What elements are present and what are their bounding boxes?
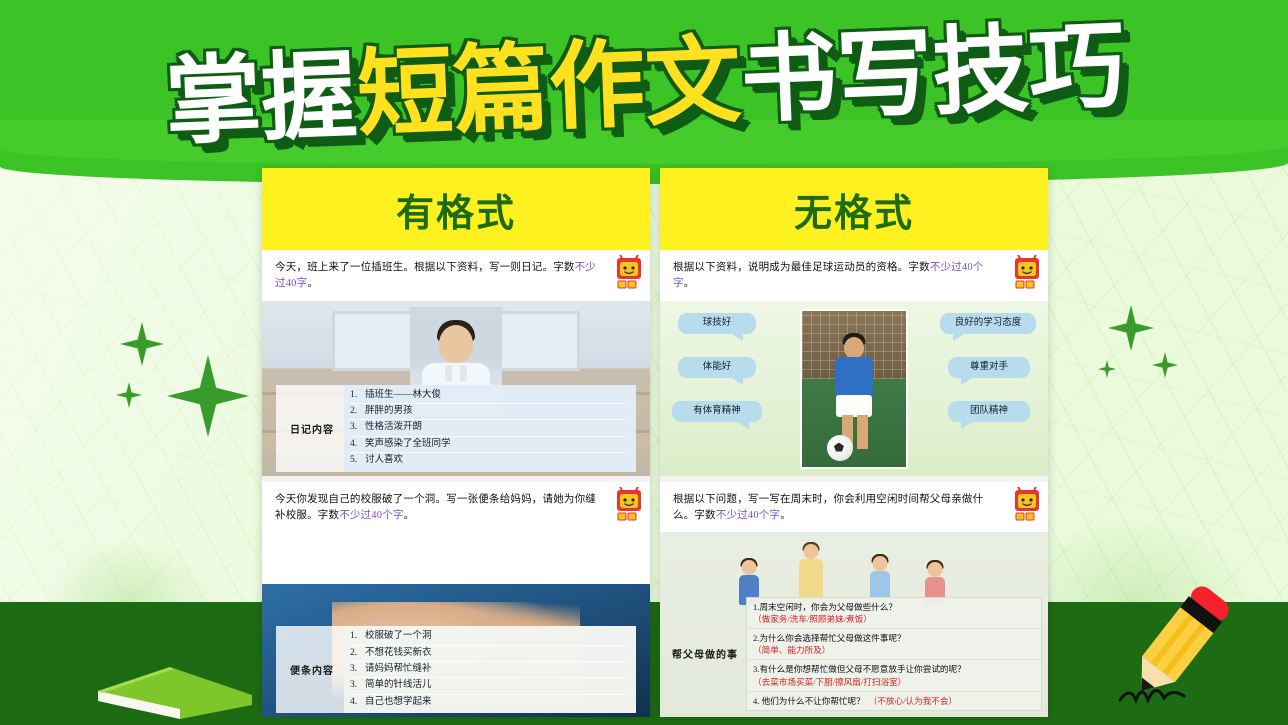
- question-card-diary: 今天，班上来了一位插班生。根据以下资料，写一则日记。字数不少过40字。: [262, 250, 650, 476]
- prompt-soccer: 根据以下资料，说明成为最佳足球运动员的资格。字数不少过40个字。: [660, 250, 1048, 301]
- list-text: 自己也想学起来: [365, 695, 432, 710]
- question-row: 3.有什么是你想帮忙做但父母不愿意放手让你尝试的呢？ （去菜市场买菜/下厨/擦风…: [747, 660, 1041, 691]
- pencil-icon: [1114, 576, 1244, 711]
- list-item: 4.自己也想学起来: [350, 695, 626, 710]
- panel-header-with-format: 有格式: [262, 168, 650, 250]
- soccer-ball: [827, 435, 853, 461]
- student-collar: [445, 365, 467, 381]
- player-shorts: [836, 395, 872, 417]
- title-char: 写: [834, 25, 934, 125]
- panel-with-format: 有格式 今天，班上来了一位插班生。根据以下资料，写一则日记。字数不少过40字。: [262, 168, 650, 713]
- note-content-list: 1.校服破了一个洞 2.不想花钱买新衣 3.请妈妈帮忙缝补 3.简单的针线活儿 …: [344, 626, 636, 713]
- list-number: 5.: [350, 453, 365, 468]
- answer-hint: （做家务/洗车/照顾弟妹/煮饭）: [753, 613, 1035, 625]
- list-item: 3.性格活泼开朗: [350, 420, 626, 436]
- diary-content-list: 1.插班生——林大俊 2.胖胖的男孩 3.性格活泼开朗 4.笑声感染了全班同学 …: [344, 385, 636, 472]
- list-item: 3.请妈妈帮忙缝补: [350, 662, 626, 678]
- figure-head: [873, 556, 888, 571]
- panel-body-without-format: 根据以下资料，说明成为最佳足球运动员的资格。字数不少过40个字。: [660, 250, 1048, 717]
- list-item: 1.插班生——林大俊: [350, 388, 626, 404]
- diary-content-label: 日记内容: [276, 421, 344, 436]
- player-shirt: [835, 357, 873, 397]
- title-char: 文: [642, 32, 742, 132]
- prompt-text-end: 。: [684, 278, 695, 289]
- list-item: 5.讨人喜欢: [350, 453, 626, 468]
- prompt-helping-parents: 根据以下问题，写一写在周末时，你会利用空闲时间帮父母亲做什么。字数不少过40个字…: [660, 482, 1048, 533]
- prompt-text-part: 根据以下资料，说明成为最佳足球运动员的资格。字数: [673, 262, 930, 273]
- bubble-teamwork: 团队精神: [948, 401, 1030, 422]
- prompt-text-end: 。: [307, 278, 318, 289]
- list-text: 插班生——林大俊: [365, 388, 441, 403]
- list-number: 1.: [350, 388, 365, 403]
- list-number: 4.: [350, 437, 365, 452]
- mascot-icon: [614, 487, 644, 521]
- note-content-label: 便条内容: [276, 662, 344, 677]
- title-char: 巧: [1026, 18, 1126, 118]
- bubble-sportsmanship: 有体育精神: [672, 401, 762, 422]
- question-rows: 1.周末空闲时，你会为父母做些什么？ （做家务/洗车/照顾弟妹/煮饭） 2.为什…: [746, 597, 1042, 711]
- helping-parents-label: 帮父母做的事: [666, 646, 746, 661]
- question-row: 4. 他们为什么不让你帮忙呢？（不放心/认为我不会）: [747, 692, 1041, 710]
- question-card-soccer: 根据以下资料，说明成为最佳足球运动员的资格。字数不少过40个字。: [660, 250, 1048, 476]
- title-char: 掌: [163, 51, 263, 151]
- bubble-attitude: 良好的学习态度: [940, 313, 1036, 334]
- question-text: 2.为什么你会选择帮忙父母做这件事呢？: [753, 632, 1035, 644]
- question-row: 1.周末空闲时，你会为父母做些什么？ （做家务/洗车/照顾弟妹/煮饭）: [747, 598, 1041, 629]
- list-number: 2.: [350, 404, 365, 419]
- bubble-respect: 尊重对手: [948, 357, 1030, 378]
- list-number: 3.: [350, 678, 365, 693]
- list-text: 请妈妈帮忙缝补: [365, 662, 432, 677]
- question-text: 1.周末空闲时，你会为父母做些什么？: [753, 601, 1035, 613]
- answer-hint: （简单、能力所及）: [753, 644, 1035, 656]
- bubble-fitness: 体能好: [678, 357, 756, 378]
- list-number: 2.: [350, 646, 365, 661]
- title-char: 技: [930, 21, 1030, 121]
- mascot-icon: [1012, 255, 1042, 289]
- media-classroom-photo: 日记内容 1.插班生——林大俊 2.胖胖的男孩 3.性格活泼开朗 4.笑声感染了…: [262, 301, 650, 476]
- figure-head: [742, 560, 757, 575]
- question-text: 3.有什么是你想帮忙做但父母不愿意放手让你尝试的呢？: [753, 663, 1035, 675]
- media-sewing-photo: 便条内容 1.校服破了一个洞 2.不想花钱买新衣 3.请妈妈帮忙缝补 3.简单的…: [262, 532, 650, 717]
- question-text: 4. 他们为什么不让你帮忙呢？: [753, 696, 865, 706]
- note-content-overlay: 便条内容 1.校服破了一个洞 2.不想花钱买新衣 3.请妈妈帮忙缝补 3.简单的…: [276, 626, 636, 713]
- list-item: 3.简单的针线活儿: [350, 678, 626, 694]
- list-item: 2.不想花钱买新衣: [350, 646, 626, 662]
- bubble-skill: 球技好: [678, 313, 756, 334]
- answer-hint: （不放心/认为我不会）: [869, 696, 957, 706]
- panel-without-format: 无格式 根据以下资料，说明成为最佳足球运动员的资格。字数不少过40个字。: [660, 168, 1048, 713]
- prompt-diary: 今天，班上来了一位插班生。根据以下资料，写一则日记。字数不少过40字。: [262, 250, 650, 301]
- figure-head: [928, 562, 943, 577]
- media-soccer-mindmap: 球技好 体能好 有体育精神 良好的学习态度 尊重对手 团队精神: [660, 301, 1048, 476]
- panel-header-without-format: 无格式: [660, 168, 1048, 250]
- question-row: 2.为什么你会选择帮忙父母做这件事呢？ （简单、能力所及）: [747, 629, 1041, 660]
- list-text: 校服破了一个洞: [365, 629, 432, 644]
- prompt-text-part: 今天你发现自己的校服破了一个洞。写一张便条给妈妈，请她为你缝补校服。字数: [275, 494, 596, 521]
- list-item: 1.校服破了一个洞: [350, 629, 626, 645]
- figure-head: [804, 544, 819, 559]
- panel-header-label: 有格式: [396, 182, 516, 237]
- panel-body-with-format: 今天，班上来了一位插班生。根据以下资料，写一则日记。字数不少过40字。: [262, 250, 650, 717]
- prompt-note: 今天你发现自己的校服破了一个洞。写一张便条给妈妈，请她为你缝补校服。字数不少过4…: [262, 482, 650, 533]
- media-family-illustration: 帮父母做的事 1.周末空闲时，你会为父母做些什么？ （做家务/洗车/照顾弟妹/煮…: [660, 532, 1048, 717]
- prompt-text-part: 今天，班上来了一位插班生。根据以下资料，写一则日记。字数: [275, 262, 575, 273]
- helping-parents-question-list: 帮父母做的事 1.周末空闲时，你会为父母做些什么？ （做家务/洗车/照顾弟妹/煮…: [666, 597, 1042, 711]
- answer-hint: （去菜市场买菜/下厨/擦风扇/打扫浴室）: [753, 676, 1035, 688]
- list-item: 2.胖胖的男孩: [350, 404, 626, 420]
- question-card-note: 今天你发现自己的校服破了一个洞。写一张便条给妈妈，请她为你缝补校服。字数不少过4…: [262, 482, 650, 718]
- prompt-highlight: 不少过40个字: [716, 510, 780, 521]
- title-char: 握: [258, 47, 358, 147]
- player-leg: [857, 415, 868, 449]
- list-text: 讨人喜欢: [365, 453, 403, 468]
- list-text: 简单的针线活儿: [365, 678, 432, 693]
- prompt-text-end: 。: [404, 510, 415, 521]
- prompt-highlight: 不少过40个字: [339, 510, 403, 521]
- list-number: 3.: [350, 420, 365, 435]
- title-char: 篇: [450, 40, 550, 140]
- player-head: [844, 337, 864, 359]
- title-char: 书: [738, 29, 838, 129]
- student-head: [439, 325, 473, 363]
- prompt-text-end: 。: [780, 510, 791, 521]
- list-text: 笑声感染了全班同学: [365, 437, 451, 452]
- book-icon: [82, 659, 252, 719]
- list-number: 4.: [350, 695, 365, 710]
- diary-content-overlay: 日记内容 1.插班生——林大俊 2.胖胖的男孩 3.性格活泼开朗 4.笑声感染了…: [276, 385, 636, 472]
- title-char: 作: [546, 36, 646, 136]
- title-char: 短: [354, 43, 454, 143]
- list-text: 胖胖的男孩: [365, 404, 413, 419]
- question-card-helping-parents: 根据以下问题，写一写在周末时，你会利用空闲时间帮父母亲做什么。字数不少过40个字…: [660, 482, 1048, 718]
- mascot-icon: [614, 255, 644, 289]
- soccer-player-photo: [800, 309, 908, 469]
- list-text: 不想花钱买新衣: [365, 646, 432, 661]
- panel-header-label: 无格式: [794, 182, 914, 237]
- list-item: 4.笑声感染了全班同学: [350, 437, 626, 453]
- mascot-icon: [1012, 487, 1042, 521]
- list-number: 3.: [350, 662, 365, 677]
- poster-canvas: 掌握短篇作文书写技巧 有格式 今天，班上来了一位插班生。根据以下资料，写一则日记…: [0, 0, 1288, 725]
- list-text: 性格活泼开朗: [365, 420, 422, 435]
- list-number: 1.: [350, 629, 365, 644]
